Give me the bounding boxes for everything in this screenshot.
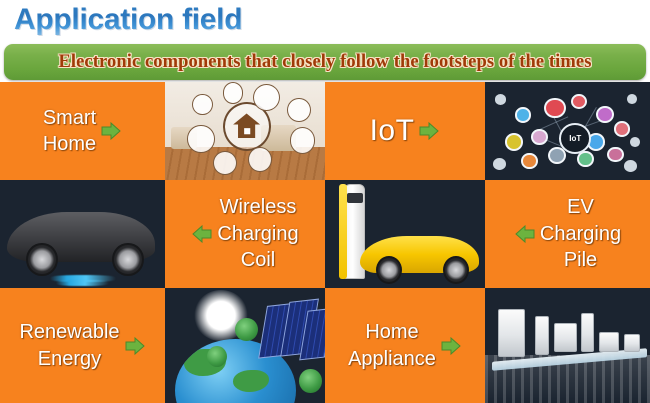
label-text: Wireless Charging Coil xyxy=(217,194,298,273)
arrow-right-icon xyxy=(418,120,440,142)
grid-cell-smart-home-label[interactable]: Smart Home xyxy=(0,82,165,180)
grid-cell-iot-label[interactable]: IoT xyxy=(325,82,485,180)
grid-cell-renewable-energy-image xyxy=(165,288,325,403)
label-text: Renewable Energy xyxy=(19,319,119,372)
grid-cell-home-appliance-image xyxy=(485,288,650,403)
grid-cell-smart-home-image xyxy=(165,82,325,180)
subtitle-banner-text: Electronic components that closely follo… xyxy=(58,52,591,73)
label-text: EV Charging Pile xyxy=(540,194,621,273)
house-icon xyxy=(229,111,264,140)
arrow-left-icon xyxy=(514,223,536,245)
iot-center-label: IoT xyxy=(559,123,591,153)
grid-cell-iot-image: IoT xyxy=(485,82,650,180)
grid-cell-ev-charging-label[interactable]: EV Charging Pile xyxy=(485,180,650,288)
arrow-right-icon xyxy=(100,120,122,142)
page-title: Application field xyxy=(14,0,242,42)
grid-cell-renewable-energy-label[interactable]: Renewable Energy xyxy=(0,288,165,403)
slide-root: Application field Application field Elec… xyxy=(0,0,650,403)
label-text: Home Appliance xyxy=(348,319,436,372)
arrow-right-icon xyxy=(124,335,146,357)
label-text: IoT xyxy=(370,111,415,151)
arrow-left-icon xyxy=(191,223,213,245)
arrow-right-icon xyxy=(440,335,462,357)
grid-cell-ev-charging-image xyxy=(325,180,485,288)
label-text: Smart Home xyxy=(43,105,96,158)
application-grid: Smart Home xyxy=(0,82,650,403)
grid-cell-wireless-charging-image xyxy=(0,180,165,288)
grid-cell-wireless-charging-label[interactable]: Wireless Charging Coil xyxy=(165,180,325,288)
subtitle-banner: Electronic components that closely follo… xyxy=(4,44,646,80)
grid-cell-home-appliance-label[interactable]: Home Appliance xyxy=(325,288,485,403)
